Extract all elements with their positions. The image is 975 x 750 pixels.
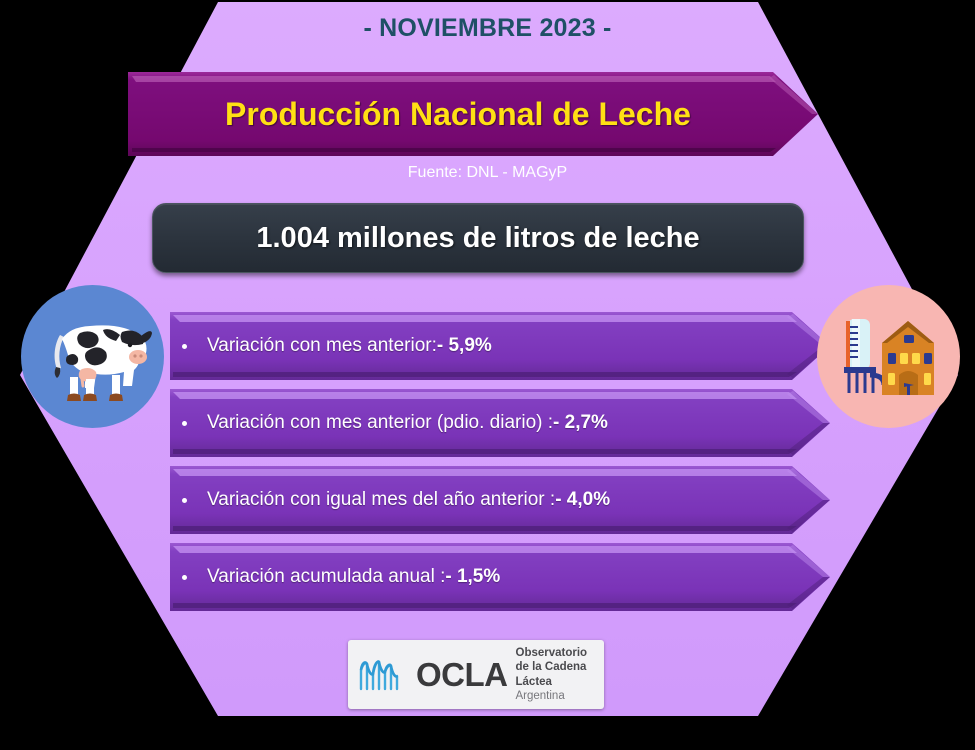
list-item: Variación acumulada anual : - 1,5%	[170, 543, 830, 611]
bullet-list: Variación con mes anterior: - 5,9% Varia…	[170, 312, 830, 620]
bullet-dot-icon	[182, 421, 187, 426]
page-title: Producción Nacional de Leche	[128, 72, 788, 156]
list-item-text: Variación con igual mes del año anterior…	[170, 466, 770, 534]
source-label: Fuente: DNL - MAGyP	[0, 164, 975, 182]
list-item-label: Variación con mes anterior (pdio. diario…	[207, 412, 553, 434]
headline-value-box: 1.004 millones de litros de leche	[152, 203, 804, 273]
ocla-tagline: Observatorio de la Cadena Láctea Argenti…	[516, 646, 605, 702]
bullet-dot-icon	[182, 344, 187, 349]
title-banner: Producción Nacional de Leche	[128, 72, 818, 156]
cow-icon-circle	[21, 285, 164, 428]
list-item-label: Variación con mes anterior:	[207, 335, 437, 357]
list-item: Variación con mes anterior: - 5,9%	[170, 312, 830, 380]
ocla-logo: OCLA Observatorio de la Cadena Láctea Ar…	[348, 640, 604, 709]
bullet-dot-icon	[182, 498, 187, 503]
list-item-text: Variación con mes anterior: - 5,9%	[170, 312, 770, 380]
list-item-text: Variación con mes anterior (pdio. diario…	[170, 389, 770, 457]
list-item: Variación con igual mes del año anterior…	[170, 466, 830, 534]
wave-icon	[358, 658, 414, 692]
dairy-plant-icon	[834, 309, 944, 405]
ocla-wordmark: OCLA	[416, 658, 508, 691]
list-item-label: Variación con igual mes del año anterior…	[207, 489, 555, 511]
ocla-tagline-line2: de la Cadena Láctea	[516, 660, 605, 688]
list-item-value: - 4,0%	[555, 489, 610, 511]
infographic-canvas: - NOVIEMBRE 2023 - Producción Nacional d…	[0, 0, 975, 750]
list-item: Variación con mes anterior (pdio. diario…	[170, 389, 830, 457]
list-item-value: - 2,7%	[553, 412, 608, 434]
cow-icon	[34, 309, 152, 405]
ocla-tagline-line1: Observatorio	[516, 646, 605, 660]
month-label: - NOVIEMBRE 2023 -	[0, 14, 975, 43]
list-item-text: Variación acumulada anual : - 1,5%	[170, 543, 770, 611]
bullet-dot-icon	[182, 575, 187, 580]
ocla-tagline-line3: Argentina	[516, 689, 605, 703]
list-item-value: - 1,5%	[445, 566, 500, 588]
list-item-value: - 5,9%	[437, 335, 492, 357]
list-item-label: Variación acumulada anual :	[207, 566, 445, 588]
dairy-plant-icon-circle	[817, 285, 960, 428]
headline-value: 1.004 millones de litros de leche	[256, 222, 699, 255]
